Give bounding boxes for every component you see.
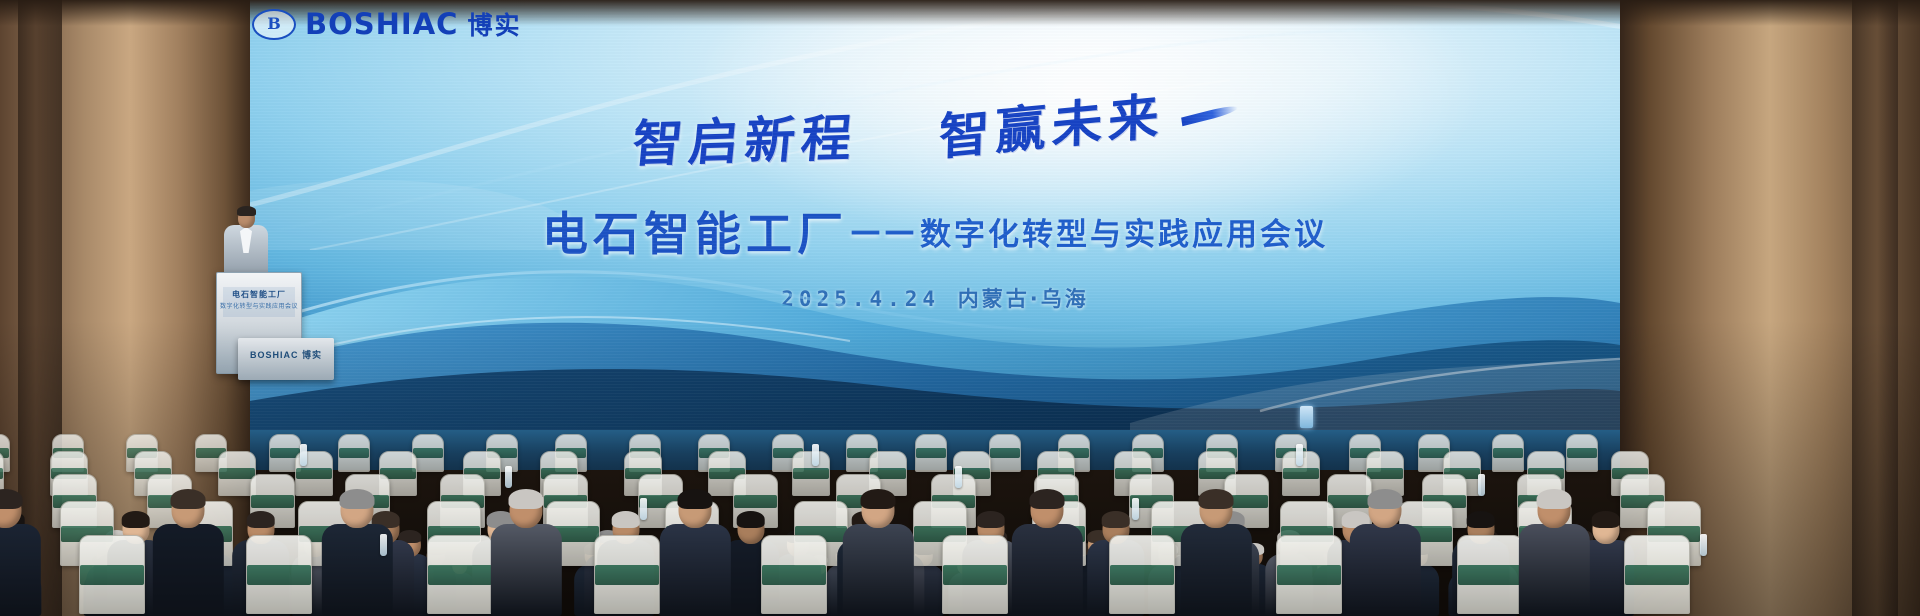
chair-band [1110, 565, 1174, 585]
audience-hair [1368, 489, 1403, 509]
water-bottle [955, 466, 962, 488]
chair-band [219, 468, 255, 479]
audience-member [153, 491, 223, 616]
water-bottle [300, 444, 307, 466]
audience-chair [412, 434, 444, 472]
audience-chair [246, 535, 312, 614]
audience-hair [121, 511, 150, 528]
audience-hair [1537, 489, 1572, 509]
audience-chair [594, 535, 660, 614]
audience-body [1012, 524, 1082, 616]
audience-chair [942, 535, 1008, 614]
chair-band [0, 468, 3, 479]
audience-hair [246, 511, 275, 528]
audience-chair [915, 434, 947, 472]
audience-chair [792, 451, 830, 496]
audience-hair [171, 489, 206, 509]
chair-band [1458, 565, 1522, 585]
audience-hair [976, 511, 1005, 528]
audience-body [1519, 524, 1589, 616]
audience-hair [1101, 511, 1130, 528]
podium-label-line2: 数字化转型与实践应用会议 [217, 301, 301, 310]
audience-body [1350, 524, 1420, 616]
water-bottle [380, 534, 387, 556]
audience-member [843, 491, 913, 616]
audience-hair [1466, 511, 1495, 528]
audience-chair [338, 434, 370, 472]
audience-hair [611, 511, 640, 528]
audience-hair [1199, 489, 1234, 509]
water-bottle [812, 444, 819, 466]
chair-band [1367, 468, 1403, 479]
audience-member [1012, 491, 1082, 616]
chair-band [428, 565, 492, 585]
audience-area [0, 316, 1920, 616]
chair-band [990, 448, 1020, 457]
audience-member [0, 491, 40, 616]
podium-label-line1: 电石智能工厂 [217, 289, 301, 300]
audience-chair [761, 535, 827, 614]
audience-member [1519, 491, 1589, 616]
audience-hair [861, 489, 896, 509]
chair-band [1625, 565, 1689, 585]
chair-band [916, 448, 946, 457]
audience-chair [79, 535, 145, 614]
chair-band [413, 448, 443, 457]
audience-chair [1492, 434, 1524, 472]
water-bottle [505, 466, 512, 488]
audience-hair [678, 489, 713, 509]
chair-band [734, 495, 777, 508]
audience-member [1350, 491, 1420, 616]
audience-chair [989, 434, 1021, 472]
boshiac-emblem-icon: B [252, 9, 296, 40]
audience-hair [340, 489, 375, 509]
chair-band [943, 565, 1007, 585]
chair-band [1283, 468, 1319, 479]
company-logo: B BOSHIAC 博实 [252, 6, 521, 42]
audience-body [153, 524, 223, 616]
audience-member [491, 491, 561, 616]
chair-band [251, 495, 294, 508]
water-bottle [1296, 444, 1303, 466]
audience-body [1181, 524, 1251, 616]
audience-chair [427, 535, 493, 614]
audience-chair [1624, 535, 1690, 614]
audience-hair [1030, 489, 1065, 509]
water-bottle [1132, 498, 1139, 520]
speaker-hair [237, 206, 256, 216]
chair-band [296, 468, 332, 479]
audience-chair [1109, 535, 1175, 614]
chair-band [247, 565, 311, 585]
conference-photo: 智启新程 智赢未来 电石智能工厂——数字化转型与实践应用会议 2025.4.24… [0, 0, 1920, 616]
water-bottle [640, 498, 647, 520]
audience-hair [1591, 511, 1620, 528]
audience-body [491, 524, 561, 616]
emblem-letter: B [267, 16, 281, 32]
audience-hair [736, 511, 765, 528]
logo-chinese-name: 博实 [467, 6, 521, 42]
chair-band [1567, 448, 1597, 457]
chair-band [1277, 565, 1341, 585]
chair-band [793, 468, 829, 479]
audience-member [1181, 491, 1251, 616]
audience-chair [1457, 535, 1523, 614]
chair-band [80, 565, 144, 585]
chair-band [339, 448, 369, 457]
water-bottle [1700, 534, 1707, 556]
audience-chair [1566, 434, 1598, 472]
audience-member [660, 491, 730, 616]
chair-band [762, 565, 826, 585]
audience-hair [509, 489, 544, 509]
audience-phone-screen [1300, 406, 1313, 428]
chair-band [595, 565, 659, 585]
speaker-person [222, 208, 270, 278]
audience-body [843, 524, 913, 616]
audience-body [0, 524, 40, 616]
audience-chair [1276, 535, 1342, 614]
audience-hair [0, 489, 23, 509]
logo-wordmark: BOSHIAC [305, 7, 458, 41]
chair-band [1493, 448, 1523, 457]
audience-body [660, 524, 730, 616]
water-bottle [1478, 474, 1485, 496]
